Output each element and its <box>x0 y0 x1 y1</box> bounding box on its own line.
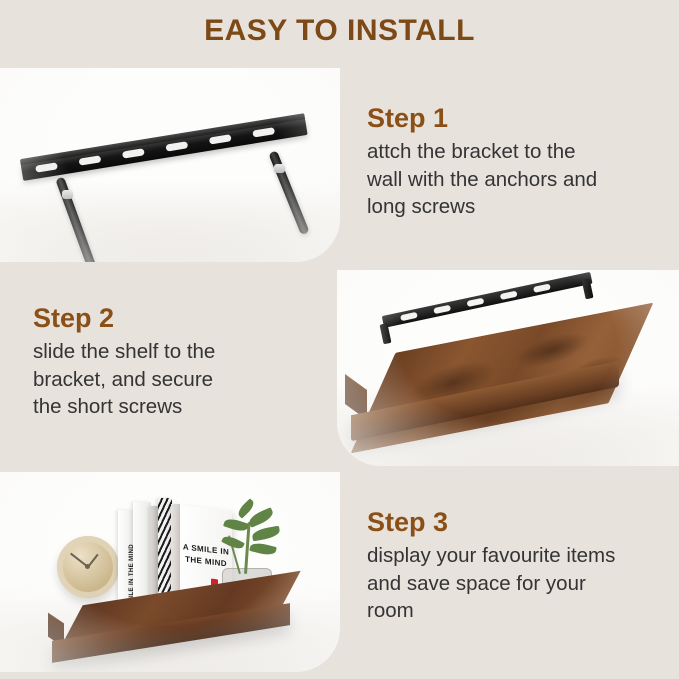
step-1-body: attch the bracket to the wall with the a… <box>367 138 667 220</box>
step-2-heading: Step 2 <box>33 304 323 332</box>
step-3-image: A SMILE IN THE MIND A SMILE IN THE MIND <box>0 472 340 672</box>
step-3-heading: Step 3 <box>367 508 669 536</box>
bracket-slot <box>209 134 232 144</box>
plant-leaf <box>249 541 277 557</box>
bracket-slot <box>165 141 188 151</box>
step-2-text: Step 2 slide the shelf to the bracket, a… <box>33 304 323 420</box>
step-2-body: slide the shelf to the bracket, and secu… <box>33 338 323 420</box>
step-1-heading: Step 1 <box>367 104 667 132</box>
product-infographic: EASY TO INSTALL Step 1 attch the bracket… <box>0 0 679 679</box>
bracket-rod-left <box>55 176 96 262</box>
bracket-slot <box>79 155 102 165</box>
wall-bracket-illustration <box>0 68 340 262</box>
clock-center-pin <box>85 564 90 569</box>
step-1-text: Step 1 attch the bracket to the wall wit… <box>367 104 667 220</box>
desk-clock <box>57 536 119 598</box>
bracket-slot <box>35 162 58 172</box>
bracket-foot <box>582 278 594 299</box>
bracket-slot <box>433 305 451 314</box>
bracket-slot <box>466 298 484 307</box>
wood-shelf-illustration <box>337 270 679 466</box>
bracket-lip <box>20 113 305 165</box>
book-cover-title: A SMILE IN THE MIND <box>180 541 232 570</box>
bracket-bar <box>21 118 308 181</box>
page-title: EASY TO INSTALL <box>0 14 679 48</box>
styled-shelf-illustration: A SMILE IN THE MIND A SMILE IN THE MIND <box>0 472 340 672</box>
plant-leaf <box>247 507 275 528</box>
bracket-nut <box>274 164 285 173</box>
bracket-slot <box>500 291 518 300</box>
bracket-slot <box>252 127 275 137</box>
step-3-text: Step 3 display your favourite items and … <box>367 508 669 624</box>
bracket-slot <box>533 284 551 293</box>
bracket-nut <box>62 190 73 199</box>
plant-leaf <box>251 526 280 542</box>
step-2-image <box>337 270 679 466</box>
bracket-foot <box>380 323 392 344</box>
bracket-rod-right <box>268 150 309 235</box>
step-1-image <box>0 68 340 262</box>
bracket-slot <box>122 148 145 158</box>
bracket-slot <box>400 312 418 321</box>
step-3-body: display your favourite items and save sp… <box>367 542 669 624</box>
